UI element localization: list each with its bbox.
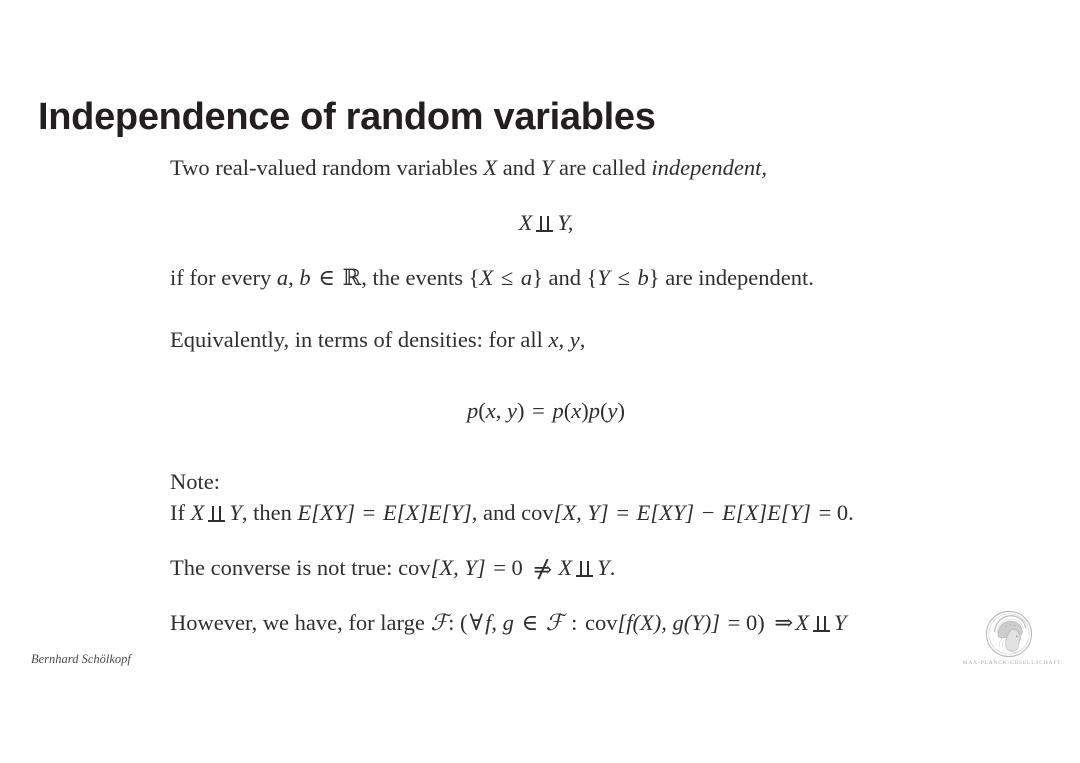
p4-e-5: E [722, 500, 736, 525]
spacer [170, 183, 922, 207]
p3-text-1: Equivalently, in terms of densities: for… [170, 327, 548, 352]
logo-wordmark: MAX-PLANCK-GESELLSCHAFT [953, 660, 1071, 666]
eq2-y-1: y [507, 398, 517, 423]
spacer [170, 238, 922, 262]
p2-set2-b: b [638, 265, 649, 290]
p4-ey-2: [Y] [781, 500, 811, 525]
p6-cov-args: [f(X), g(Y)] [618, 610, 721, 635]
eq2-equals: = [525, 398, 553, 423]
p5-var-x: X [558, 555, 572, 580]
eq2-comma-1: , [496, 398, 507, 423]
p5-text-1: The converse is not true: [170, 555, 398, 580]
eq2-paren-close-3: ) [617, 398, 625, 423]
p3-text-2: , [580, 327, 586, 352]
p1-text-1: Two real-valued random variables [170, 155, 483, 180]
equation-density-factorization: p(x, y) = p(x)p(y) [170, 395, 922, 426]
independence-symbol-icon [576, 561, 593, 577]
eq2-p-1: p [467, 398, 478, 423]
page-title: Independence of random variables [38, 96, 656, 139]
slide-canvas: Independence of random variables Two rea… [0, 0, 1080, 763]
p4-exy-1: [XY] [311, 500, 355, 525]
eq2-x-1: x [486, 398, 496, 423]
p2-var-b: b [299, 265, 310, 290]
p2-comma: , [288, 265, 299, 290]
p5-cov-args: [X, Y] [431, 555, 486, 580]
eq2-paren-close-1: ) [517, 398, 525, 423]
p4-text-2: , then [242, 500, 298, 525]
implies-icon: ⇒ [772, 610, 795, 635]
p6-colon: : [564, 610, 586, 635]
spacer [170, 426, 922, 466]
eq2-paren-close-2: ) [581, 398, 589, 423]
p4-e-3: E [428, 500, 442, 525]
p2-leq-1: ≤ [493, 265, 521, 290]
p6-cal-f-1: ℱ [430, 610, 448, 636]
p6-element-of: ∈ [514, 610, 546, 635]
eq2-x-2: x [571, 398, 581, 423]
equation-independence: XY, [170, 207, 922, 238]
p4-ex-2: [X] [736, 500, 767, 525]
p1-text-3: are called [553, 155, 651, 180]
paragraph-expectation-identity: If XY, then E[XY] = E[X]E[Y], and cov[X,… [170, 497, 922, 528]
p2-text-5: } are independent. [649, 265, 814, 290]
p4-cov-args-1: [X, Y] [554, 500, 609, 525]
p4-e-4: E [637, 500, 651, 525]
p4-ey-1: [Y] [442, 500, 472, 525]
p1-emphasis-independent: independent, [651, 155, 767, 180]
p6-cov: cov [585, 610, 618, 635]
spacer [170, 355, 922, 395]
p4-text-3: , and [472, 500, 521, 525]
paragraph-large-function-class: However, we have, for large ℱ: (∀f, g ∈ … [170, 607, 922, 639]
paragraph-densities: Equivalently, in terms of densities: for… [170, 324, 922, 355]
eq2-y-2: y [607, 398, 617, 423]
p4-equals-3: = 0. [811, 500, 856, 525]
p2-set2-y: Y [597, 265, 610, 290]
p6-cal-f-2: ℱ [546, 610, 564, 636]
p2-reals-symbol: ℝ [342, 265, 361, 291]
independence-symbol-icon [536, 216, 553, 232]
p6-var-y: Y [834, 610, 847, 635]
p3-var-x: x [548, 327, 558, 352]
independence-symbol-icon [208, 506, 225, 522]
p4-e-6: E [767, 500, 781, 525]
eq2-p-3: p [589, 398, 600, 423]
paragraph-definition: Two real-valued random variables X and Y… [170, 152, 922, 183]
p4-text-1: If [170, 500, 191, 525]
paragraph-events: if for every a, b ∈ ℝ, the events {X ≤ a… [170, 262, 922, 294]
note-label: Note: [170, 466, 922, 497]
eq2-paren-open-1: ( [478, 398, 486, 423]
p3-comma: , [558, 327, 569, 352]
p2-set1-x: X [479, 265, 493, 290]
paragraph-converse: The converse is not true: cov[X, Y] = 0 … [170, 552, 922, 583]
p5-var-y: Y [597, 555, 610, 580]
eq2-p-2: p [552, 398, 563, 423]
p1-var-x: X [483, 155, 497, 180]
p2-var-a: a [277, 265, 288, 290]
p2-text-1: if for every [170, 265, 277, 290]
slide-body: Two real-valued random variables X and Y… [170, 152, 922, 639]
eq1-right-y: Y, [557, 210, 573, 235]
p2-element-of: ∈ [311, 265, 343, 290]
minerva-seal-icon [985, 610, 1033, 658]
p4-var-x: X [191, 500, 205, 525]
p4-var-y: Y [229, 500, 242, 525]
p5-text-2: . [610, 555, 616, 580]
p4-cov-1: cov [521, 500, 554, 525]
p4-e-1: E [298, 500, 312, 525]
p6-text-2: : ( [448, 610, 467, 635]
p2-set1-a: a [521, 265, 532, 290]
spacer [170, 294, 922, 324]
p6-text-1: However, we have, for large [170, 610, 430, 635]
p4-ex-1: [X] [397, 500, 428, 525]
spacer [170, 528, 922, 552]
p2-text-3: , the events { [361, 265, 479, 290]
p4-e-2: E [383, 500, 397, 525]
eq1-left-x: X [519, 210, 533, 235]
p3-var-y: y [570, 327, 580, 352]
p1-var-y: Y [541, 155, 554, 180]
p1-text-2: and [497, 155, 541, 180]
p6-forall-symbol: ∀ [468, 610, 486, 635]
not-implies-icon: ⇒ [533, 561, 555, 578]
p5-cov: cov [398, 555, 431, 580]
p6-equals-zero: = 0) [720, 610, 772, 635]
independence-symbol-icon [813, 616, 830, 632]
max-planck-gesellschaft-logo: MAX-PLANCK-GESELLSCHAFT [953, 610, 1071, 672]
p5-equals-zero: = 0 [486, 555, 531, 580]
p6-var-x: X [795, 610, 809, 635]
p4-equals-1: = [355, 500, 383, 525]
spacer [170, 583, 922, 607]
author-footer: Bernhard Schölkopf [31, 652, 131, 667]
p6-comma: , [491, 610, 502, 635]
p4-equals-2: = [609, 500, 637, 525]
p2-leq-2: ≤ [610, 265, 638, 290]
p2-text-4: } and { [532, 265, 597, 290]
p6-var-g: g [503, 610, 514, 635]
p4-exy-2: [XY] [650, 500, 694, 525]
p4-minus: − [694, 500, 722, 525]
